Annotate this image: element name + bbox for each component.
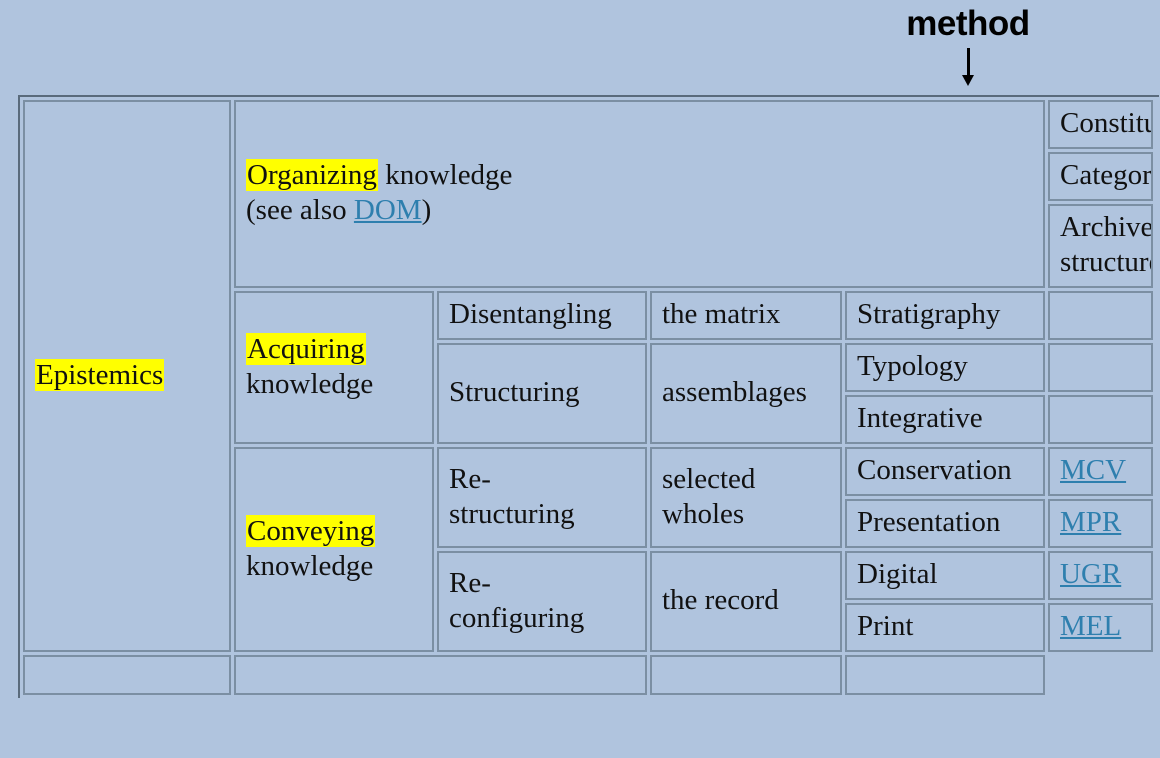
dom-link[interactable]: DOM bbox=[354, 194, 422, 226]
group-cell-conveying: Conveying knowledge bbox=[234, 447, 434, 652]
mcv-link[interactable]: MCV bbox=[1060, 454, 1126, 486]
arrow-head bbox=[962, 75, 974, 86]
table-row: Epistemics Organizing knowledge (see als… bbox=[23, 100, 1156, 149]
method-link-cell-empty-6 bbox=[1048, 395, 1153, 444]
method-link-cell-ugr: UGR bbox=[1048, 551, 1153, 600]
method-cell-digital: Digital bbox=[845, 551, 1045, 600]
method-cell-constituents: Constituents bbox=[1048, 100, 1153, 149]
action-cell-reconfiguring: Re- configuring bbox=[437, 551, 647, 652]
reconfiguring-line1: Re- bbox=[449, 567, 491, 599]
organizing-note-close: ) bbox=[422, 194, 432, 226]
selected-line1: selected bbox=[662, 463, 755, 495]
arrow-shaft bbox=[967, 48, 970, 78]
method-cell-typology: Typology bbox=[845, 343, 1045, 392]
acquiring-highlight: Acquiring bbox=[246, 333, 366, 365]
method-annotation-label: method bbox=[858, 4, 1078, 44]
object-cell-assemblages: assemblages bbox=[650, 343, 842, 444]
conveying-highlight: Conveying bbox=[246, 515, 375, 547]
conveying-rest: knowledge bbox=[246, 550, 373, 582]
method-cell-print: Print bbox=[845, 603, 1045, 652]
method-cell-archive-structure: Archive structure bbox=[1048, 204, 1153, 288]
method-link-cell-empty-5 bbox=[1048, 343, 1153, 392]
restructuring-line2: structuring bbox=[449, 498, 575, 530]
diagram-page: method Epistemics bbox=[0, 0, 1160, 758]
method-cell-stratigraphy: Stratigraphy bbox=[845, 291, 1045, 340]
epistemics-matrix: Epistemics Organizing knowledge (see als… bbox=[18, 95, 1160, 698]
method-cell-integrative: Integrative bbox=[845, 395, 1045, 444]
method-link-cell-mcv: MCV bbox=[1048, 447, 1153, 496]
method-link-cell-mel: MEL bbox=[1048, 603, 1153, 652]
table-row-partial bbox=[23, 655, 1156, 695]
method-cell-conservation: Conservation bbox=[845, 447, 1045, 496]
object-cell-selected-wholes: selected wholes bbox=[650, 447, 842, 548]
domain-cell-epistemics: Epistemics bbox=[23, 100, 231, 652]
object-cell-the-matrix: the matrix bbox=[650, 291, 842, 340]
group-cell-organizing: Organizing knowledge (see also DOM) bbox=[234, 100, 1045, 288]
mpr-link[interactable]: MPR bbox=[1060, 506, 1121, 538]
matrix-table: Epistemics Organizing knowledge (see als… bbox=[18, 95, 1159, 698]
domain-label: Epistemics bbox=[35, 359, 164, 391]
method-cell-presentation: Presentation bbox=[845, 499, 1045, 548]
action-cell-structuring: Structuring bbox=[437, 343, 647, 444]
group-cell-acquiring: Acquiring knowledge bbox=[234, 291, 434, 444]
partial-cell-1 bbox=[23, 655, 231, 695]
partial-cell-2 bbox=[234, 655, 647, 695]
partial-cell-3 bbox=[650, 655, 842, 695]
selected-line2: wholes bbox=[662, 498, 744, 530]
ugr-link[interactable]: UGR bbox=[1060, 558, 1121, 590]
restructuring-line1: Re- bbox=[449, 463, 491, 495]
method-cell-categorization: Categorization bbox=[1048, 152, 1153, 201]
action-cell-restructuring: Re- structuring bbox=[437, 447, 647, 548]
partial-cell-4 bbox=[845, 655, 1045, 695]
organizing-note-open: (see also bbox=[246, 194, 354, 226]
reconfiguring-line2: configuring bbox=[449, 602, 584, 634]
mel-link[interactable]: MEL bbox=[1060, 610, 1121, 642]
acquiring-rest: knowledge bbox=[246, 368, 373, 400]
method-link-cell-empty-4 bbox=[1048, 291, 1153, 340]
organizing-highlight: Organizing bbox=[246, 159, 378, 191]
action-cell-disentangling: Disentangling bbox=[437, 291, 647, 340]
method-annotation: method bbox=[858, 4, 1078, 90]
object-cell-the-record: the record bbox=[650, 551, 842, 652]
organizing-rest: knowledge bbox=[378, 159, 513, 191]
method-link-cell-mpr: MPR bbox=[1048, 499, 1153, 548]
down-arrow-icon bbox=[858, 48, 1078, 90]
